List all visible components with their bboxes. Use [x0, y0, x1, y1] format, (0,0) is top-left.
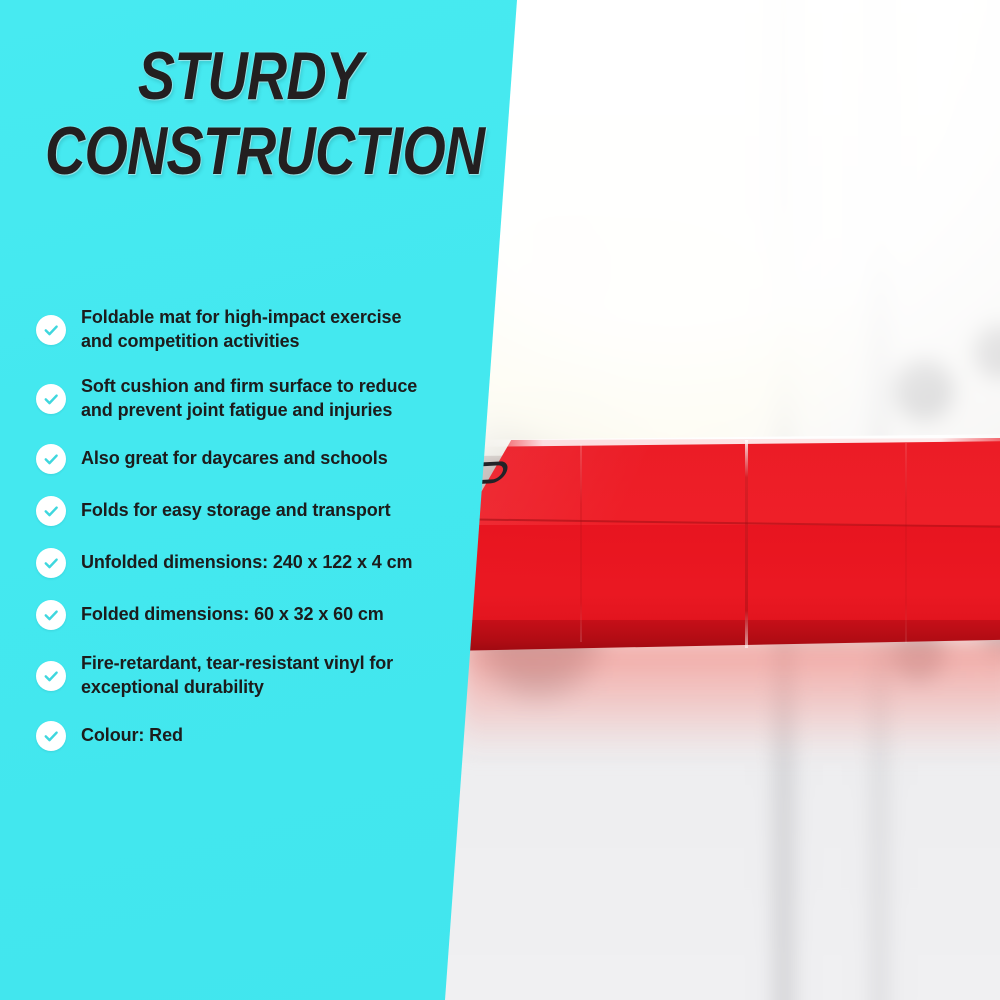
- mat-fold-seam-right: [905, 443, 907, 643]
- list-item-label: Soft cushion and firm surface to reduce …: [81, 375, 436, 422]
- check-circle-icon: [36, 600, 66, 630]
- list-item: Unfolded dimensions: 240 x 122 x 4 cm: [36, 548, 436, 578]
- list-item-label: Folds for easy storage and transport: [81, 499, 390, 523]
- list-item-label: Also great for daycares and schools: [81, 447, 388, 471]
- mat-fold-seam-left: [580, 444, 582, 642]
- list-item: Fire-retardant, tear-resistant vinyl for…: [36, 652, 436, 699]
- mat-bottom-edge: [388, 620, 1000, 652]
- list-item: Folded dimensions: 60 x 32 x 60 cm: [36, 600, 436, 630]
- list-item: Soft cushion and firm surface to reduce …: [36, 375, 436, 422]
- list-item-label: Foldable mat for high-impact exercise an…: [81, 306, 436, 353]
- mat-center-fold-seam: [745, 440, 748, 648]
- check-circle-icon: [36, 444, 66, 474]
- list-item-label: Colour: Red: [81, 724, 183, 748]
- check-circle-icon: [36, 721, 66, 751]
- check-circle-icon: [36, 496, 66, 526]
- list-item-label: Fire-retardant, tear-resistant vinyl for…: [81, 652, 436, 699]
- list-item-label: Unfolded dimensions: 240 x 122 x 4 cm: [81, 551, 412, 575]
- infographic-canvas: STURDY CONSTRUCTION Foldable mat for hig…: [0, 0, 1000, 1000]
- list-item: Folds for easy storage and transport: [36, 496, 436, 526]
- check-circle-icon: [36, 384, 66, 414]
- check-circle-icon: [36, 315, 66, 345]
- list-item: Also great for daycares and schools: [36, 444, 436, 474]
- check-circle-icon: [36, 548, 66, 578]
- list-item: Foldable mat for high-impact exercise an…: [36, 306, 436, 353]
- feature-list: Foldable mat for high-impact exercise an…: [36, 306, 436, 751]
- list-item-label: Folded dimensions: 60 x 32 x 60 cm: [81, 603, 384, 627]
- check-circle-icon: [36, 661, 66, 691]
- list-item: Colour: Red: [36, 721, 436, 751]
